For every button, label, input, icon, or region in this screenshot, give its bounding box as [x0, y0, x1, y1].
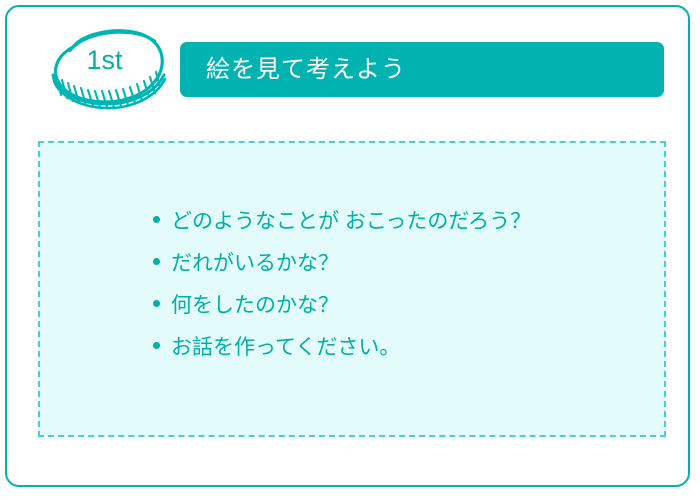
list-item: だれがいるかな？	[153, 243, 531, 285]
prompt-question-text: どのようなことが おこったのだろう？	[171, 201, 531, 243]
bullet-dot-icon	[153, 258, 160, 265]
rank-badge-label: 1st	[37, 45, 172, 75]
list-item: どのようなことが おこったのだろう？	[153, 201, 531, 243]
list-item: 何をしたのかな？	[153, 285, 531, 327]
prompt-question-list: どのようなことが おこったのだろう？ だれがいるかな？ 何をしたのかな？ お話を…	[153, 201, 531, 369]
section-title-text: 絵を見て考えよう	[180, 56, 406, 84]
list-item: お話を作ってください。	[153, 327, 531, 369]
prompt-question-text: だれがいるかな？	[171, 243, 339, 285]
rank-badge: 1st	[37, 25, 172, 117]
bullet-dot-icon	[153, 342, 160, 349]
bullet-dot-icon	[153, 216, 160, 223]
bullet-dot-icon	[153, 300, 160, 307]
prompt-question-text: 何をしたのかな？	[171, 285, 339, 327]
section-title-bar: 絵を見て考えよう	[180, 42, 664, 97]
prompt-question-text: お話を作ってください。	[171, 327, 400, 369]
prompt-panel: どのようなことが おこったのだろう？ だれがいるかな？ 何をしたのかな？ お話を…	[38, 141, 666, 437]
slide-card: 1st 絵を見て考えよう どのようなことが おこったのだろう？ だれがいるかな？…	[5, 5, 690, 487]
